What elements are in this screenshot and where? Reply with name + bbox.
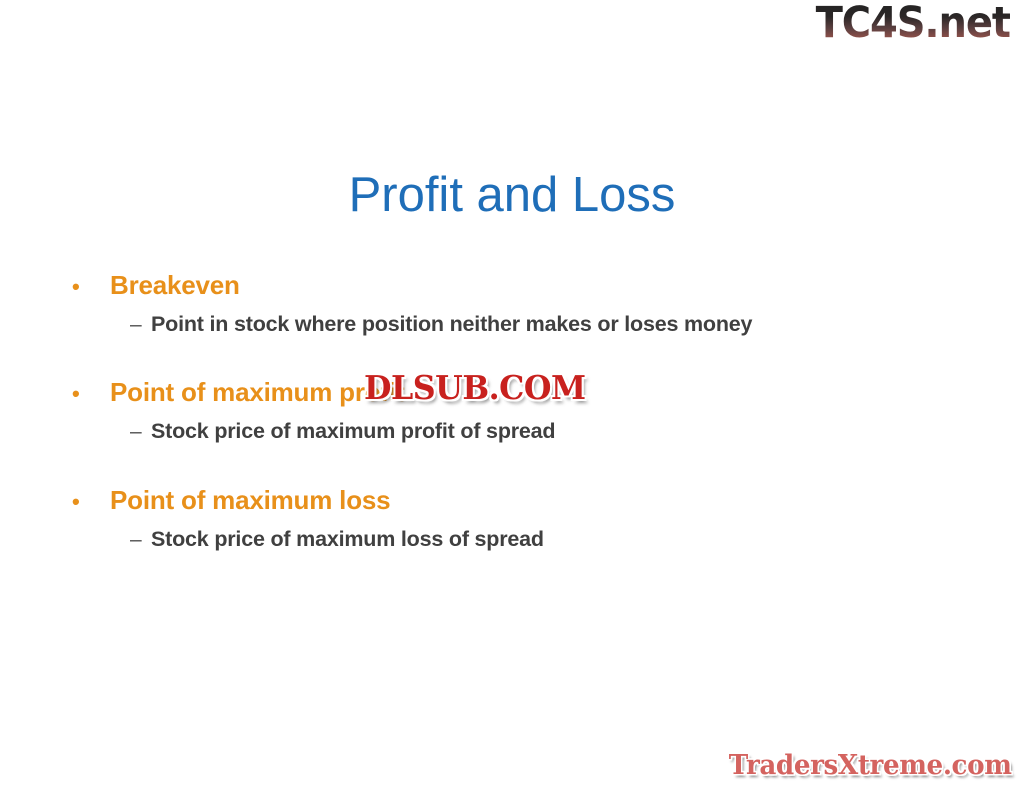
bullet-label: Breakeven xyxy=(110,270,240,301)
bullet-label: Point of maximum profit xyxy=(110,377,404,408)
bullet-dot-icon xyxy=(72,383,110,405)
bullet-dot-icon xyxy=(72,276,110,298)
tradersxtreme-footer-logo: TradersXtreme.com xyxy=(729,752,1012,779)
sub-bullet-label: Stock price of maximum profit of spread xyxy=(151,419,555,445)
bullet-list: Breakeven Point in stock where position … xyxy=(72,270,972,552)
slide-canvas: TC4S.net Profit and Loss Breakeven Point… xyxy=(0,0,1024,791)
sub-bullet-label: Point in stock where position neither ma… xyxy=(151,312,752,338)
bullet-dot-icon xyxy=(72,491,110,513)
bullet-item-level2: Stock price of maximum profit of spread xyxy=(130,419,972,445)
dash-marker-icon xyxy=(130,419,151,444)
bullet-item-level1: Point of maximum loss xyxy=(72,485,972,516)
dlsub-watermark: DLSUB.COM xyxy=(364,371,586,404)
page-title: Profit and Loss xyxy=(0,169,1024,222)
bullet-group-max-loss: Point of maximum loss Stock price of max… xyxy=(72,485,972,552)
bullet-item-level2: Stock price of maximum loss of spread xyxy=(130,527,972,553)
tc4s-brand-logo: TC4S.net xyxy=(816,2,1010,45)
bullet-label: Point of maximum loss xyxy=(110,485,390,516)
bullet-item-level1: Breakeven xyxy=(72,270,972,301)
dash-marker-icon xyxy=(130,312,151,337)
bullet-group-breakeven: Breakeven Point in stock where position … xyxy=(72,270,972,337)
bullet-item-level2: Point in stock where position neither ma… xyxy=(130,312,972,338)
sub-bullet-label: Stock price of maximum loss of spread xyxy=(151,527,544,553)
dash-marker-icon xyxy=(130,527,151,552)
